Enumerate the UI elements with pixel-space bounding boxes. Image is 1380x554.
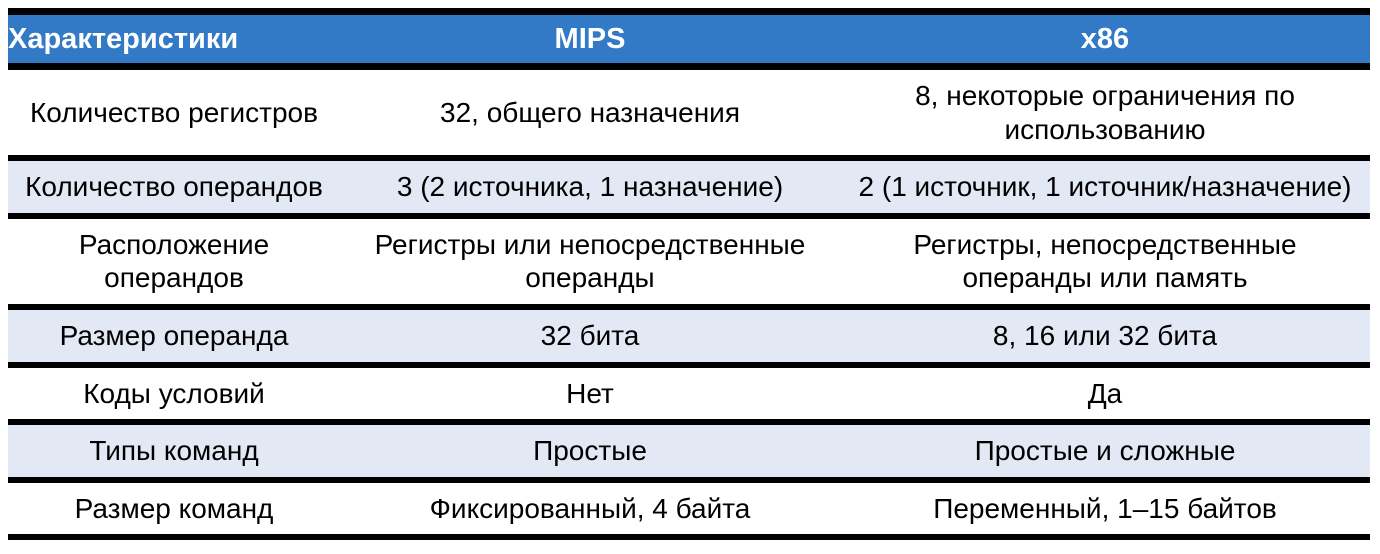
cell-feature: Размер команд: [8, 480, 340, 538]
table-row: Типы команд Простые Простые и сложные: [8, 422, 1370, 480]
cell-x86: 8, некоторые ограничения по использовани…: [840, 67, 1370, 159]
table-row: Количество операндов 3 (2 источника, 1 н…: [8, 158, 1370, 216]
table-header: Характеристики MIPS x86: [8, 12, 1370, 67]
cell-feature: Количество регистров: [8, 67, 340, 159]
column-header-x86: x86: [840, 12, 1370, 67]
table-row: Количество регистров 32, общего назначен…: [8, 67, 1370, 159]
table-body: Количество регистров 32, общего назначен…: [8, 67, 1370, 538]
cell-x86: Да: [840, 365, 1370, 423]
cell-x86: Переменный, 1–15 байтов: [840, 480, 1370, 538]
table-header-row: Характеристики MIPS x86: [8, 12, 1370, 67]
cell-mips: 32 бита: [340, 307, 840, 365]
cell-feature: Расположение операндов: [8, 216, 340, 307]
column-header-mips: MIPS: [340, 12, 840, 67]
cell-mips: Простые: [340, 422, 840, 480]
slide-canvas: Характеристики MIPS x86 Количество регис…: [0, 0, 1380, 554]
cell-x86: 8, 16 или 32 бита: [840, 307, 1370, 365]
cell-x86: Простые и сложные: [840, 422, 1370, 480]
column-header-feature: Характеристики: [8, 12, 340, 67]
table-row: Размер команд Фиксированный, 4 байта Пер…: [8, 480, 1370, 538]
cell-feature: Размер операнда: [8, 307, 340, 365]
table-row: Коды условий Нет Да: [8, 365, 1370, 423]
cell-mips: Регистры или непосредственные операнды: [340, 216, 840, 307]
cell-feature: Количество операндов: [8, 158, 340, 216]
table-row: Расположение операндов Регистры или непо…: [8, 216, 1370, 307]
comparison-table: Характеристики MIPS x86 Количество регис…: [8, 8, 1370, 540]
cell-mips: Нет: [340, 365, 840, 423]
cell-feature: Коды условий: [8, 365, 340, 423]
cell-mips: 32, общего назначения: [340, 67, 840, 159]
cell-mips: Фиксированный, 4 байта: [340, 480, 840, 538]
cell-feature: Типы команд: [8, 422, 340, 480]
cell-x86: Регистры, непосредственные операнды или …: [840, 216, 1370, 307]
cell-x86: 2 (1 источник, 1 источник/назначение): [840, 158, 1370, 216]
table-row: Размер операнда 32 бита 8, 16 или 32 бит…: [8, 307, 1370, 365]
cell-mips: 3 (2 источника, 1 назначение): [340, 158, 840, 216]
